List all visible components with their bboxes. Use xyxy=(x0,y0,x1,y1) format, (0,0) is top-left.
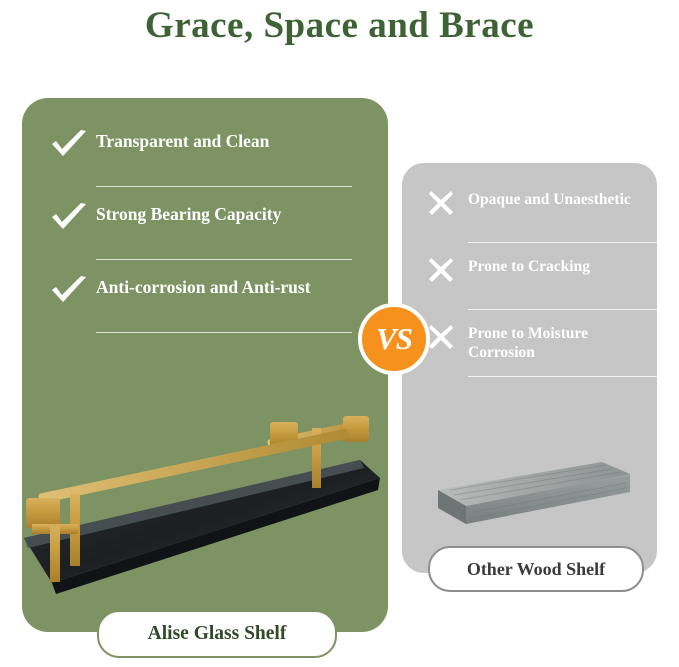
list-item-label: Prone to Cracking xyxy=(468,255,590,276)
wood-shelf-image xyxy=(430,452,635,537)
list-item: Anti-corrosion and Anti-rust xyxy=(50,274,352,318)
comparison-infographic: Grace, Space and Brace xyxy=(0,0,679,667)
cross-icon xyxy=(428,188,468,221)
check-icon xyxy=(50,128,96,160)
list-item-label: Strong Bearing Capacity xyxy=(96,201,281,225)
divider xyxy=(468,376,668,377)
cross-icon xyxy=(428,322,468,355)
wood-shelf-feature-list: Opaque and Unaesthetic Prone to Cracking… xyxy=(428,188,646,389)
divider xyxy=(96,259,352,260)
list-item: Strong Bearing Capacity xyxy=(50,201,352,245)
check-icon xyxy=(50,201,96,233)
glass-shelf-feature-list: Transparent and Clean Strong Bearing Cap… xyxy=(50,128,352,347)
list-item: Prone to Cracking xyxy=(428,255,646,297)
page-title: Grace, Space and Brace xyxy=(0,4,679,47)
list-item-label: Prone to Moisture Corrosion xyxy=(468,322,646,362)
glass-shelf-caption: Alise Glass Shelf xyxy=(97,610,337,658)
divider xyxy=(468,309,668,310)
vs-badge: VS xyxy=(358,303,430,375)
divider xyxy=(468,242,668,243)
glass-shelf-image xyxy=(12,398,382,598)
divider xyxy=(96,332,352,333)
list-item-label: Transparent and Clean xyxy=(96,128,269,152)
cross-icon xyxy=(428,255,468,288)
divider xyxy=(96,186,352,187)
list-item: Opaque and Unaesthetic xyxy=(428,188,646,230)
check-icon xyxy=(50,274,96,306)
list-item: Transparent and Clean xyxy=(50,128,352,172)
list-item-label: Opaque and Unaesthetic xyxy=(468,188,631,209)
wood-shelf-caption: Other Wood Shelf xyxy=(428,546,644,592)
list-item-label: Anti-corrosion and Anti-rust xyxy=(96,274,311,298)
list-item: Prone to Moisture Corrosion xyxy=(428,322,646,364)
